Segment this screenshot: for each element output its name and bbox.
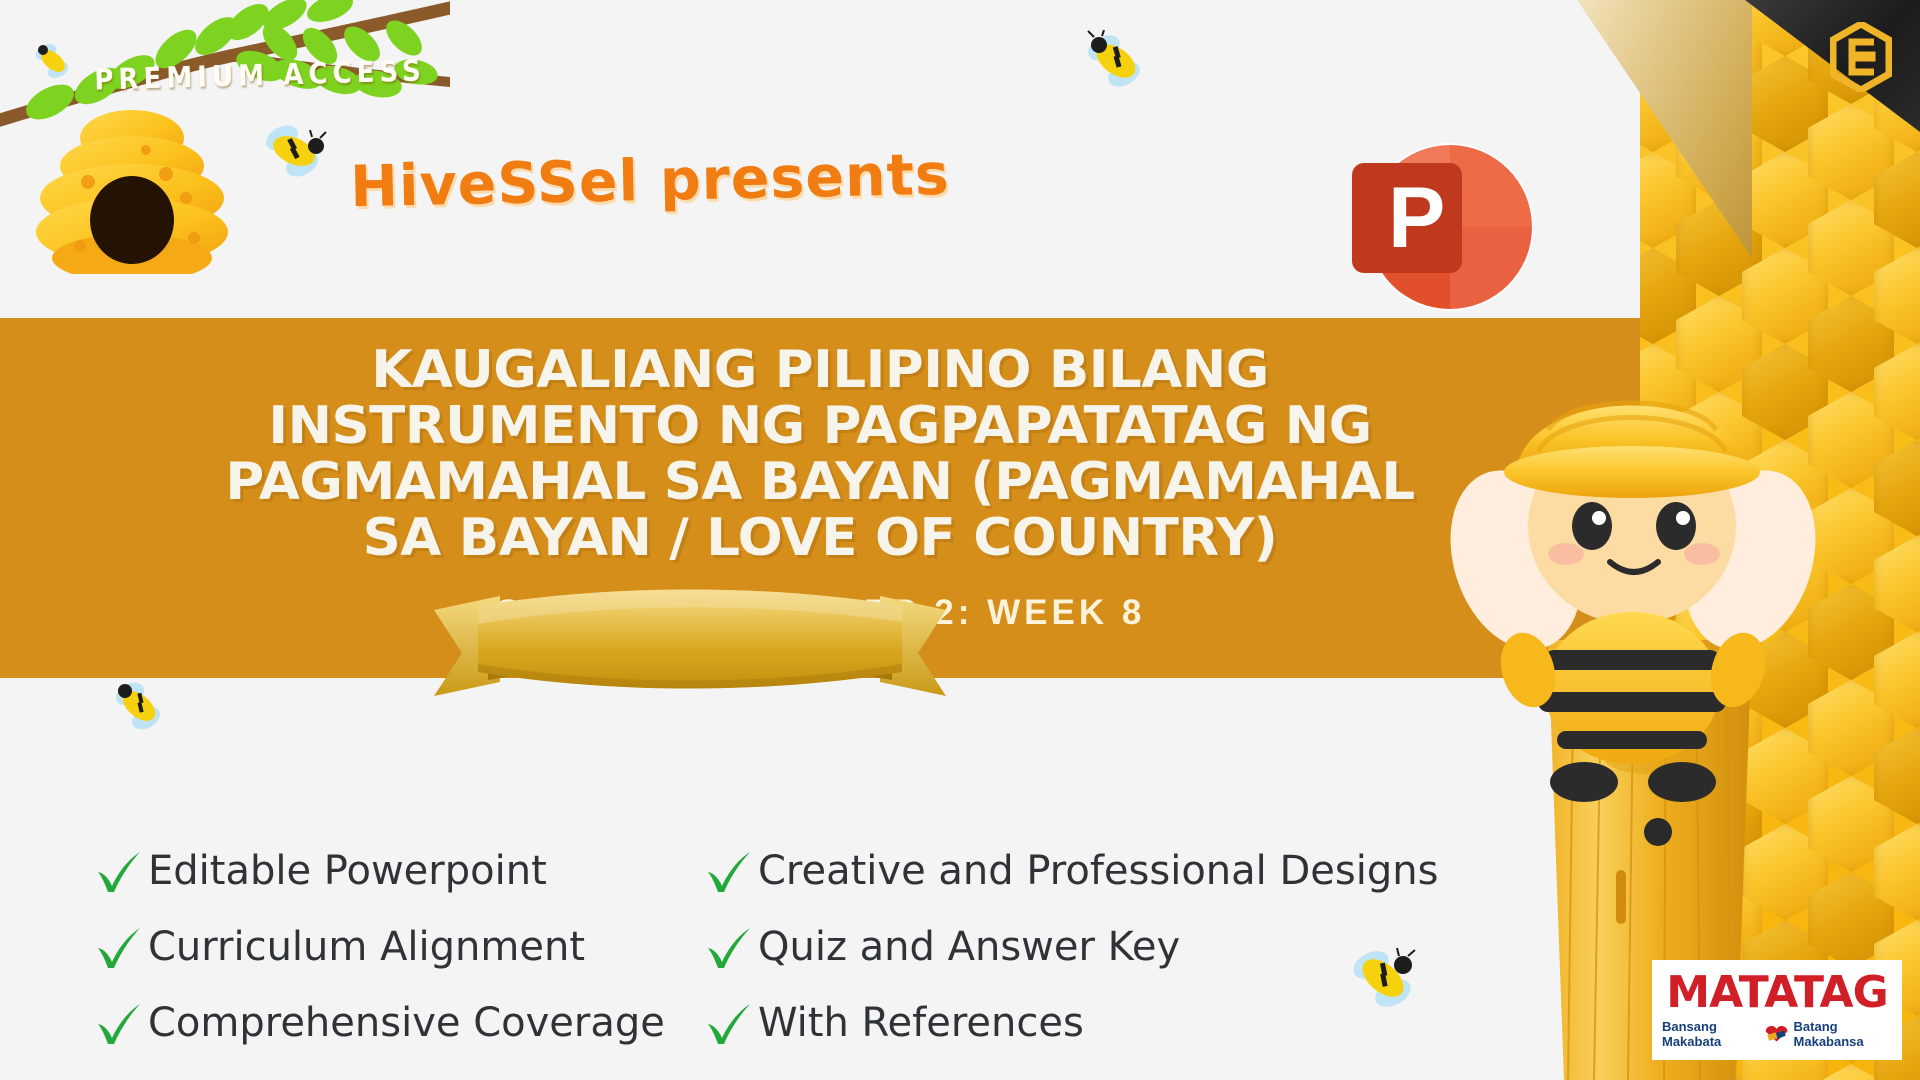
feature-label: Editable Powerpoint xyxy=(148,848,547,894)
check-icon xyxy=(702,921,754,973)
feature-item: Comprehensive Coverage xyxy=(92,997,702,1049)
bee-icon xyxy=(30,40,76,82)
matatag-tagline-left: Bansang Makabata xyxy=(1662,1019,1760,1049)
check-icon xyxy=(702,845,754,897)
matatag-tagline-right: Batang Makabansa xyxy=(1794,1019,1892,1049)
check-icon xyxy=(92,921,144,973)
premium-access-ribbon xyxy=(430,570,950,710)
page-title-line: SA BAYAN / LOVE OF COUNTRY) xyxy=(126,510,1513,566)
feature-list: Editable PowerpointCreative and Professi… xyxy=(92,845,1412,1049)
powerpoint-letter: P xyxy=(1388,170,1445,266)
feature-label: With References xyxy=(758,1000,1084,1046)
feature-item: Curriculum Alignment xyxy=(92,921,702,973)
page-title-line: INSTRUMENTO NG PAGPAPATATAG NG xyxy=(126,398,1513,454)
check-icon xyxy=(92,845,144,897)
bee-icon xyxy=(108,678,170,734)
page-title-line: KAUGALIANG PILIPINO BILANG xyxy=(126,342,1513,398)
feature-label: Curriculum Alignment xyxy=(148,924,585,970)
matatag-wordmark: MATATAG xyxy=(1666,971,1887,1015)
feature-label: Comprehensive Coverage xyxy=(148,1000,665,1046)
bee-icon xyxy=(1345,945,1425,1015)
matatag-tagline: Bansang Makabata Batang Makabansa xyxy=(1662,1019,1892,1049)
feature-item: With References xyxy=(702,997,1402,1049)
feature-item: Editable Powerpoint xyxy=(92,845,702,897)
page-title: KAUGALIANG PILIPINO BILANGINSTRUMENTO NG… xyxy=(126,342,1513,567)
hexagon-s-logo-icon xyxy=(1830,22,1892,92)
matatag-logo: MATATAG Bansang Makabata Batang Makabans… xyxy=(1652,960,1902,1060)
powerpoint-icon: P xyxy=(1338,135,1533,320)
feature-label: Creative and Professional Designs xyxy=(758,848,1438,894)
check-icon xyxy=(702,997,754,1049)
feature-item: Creative and Professional Designs xyxy=(702,845,1402,897)
feature-item: Quiz and Answer Key xyxy=(702,921,1402,973)
bee-mascot-icon xyxy=(1420,330,1840,890)
feature-label: Quiz and Answer Key xyxy=(758,924,1180,970)
handshake-icon xyxy=(1764,1021,1789,1047)
bee-icon xyxy=(1080,30,1152,92)
page-title-line: PAGMAMAHAL SA BAYAN (PAGMAMAHAL xyxy=(126,454,1513,510)
bee-icon xyxy=(258,120,330,182)
check-icon xyxy=(92,997,144,1049)
